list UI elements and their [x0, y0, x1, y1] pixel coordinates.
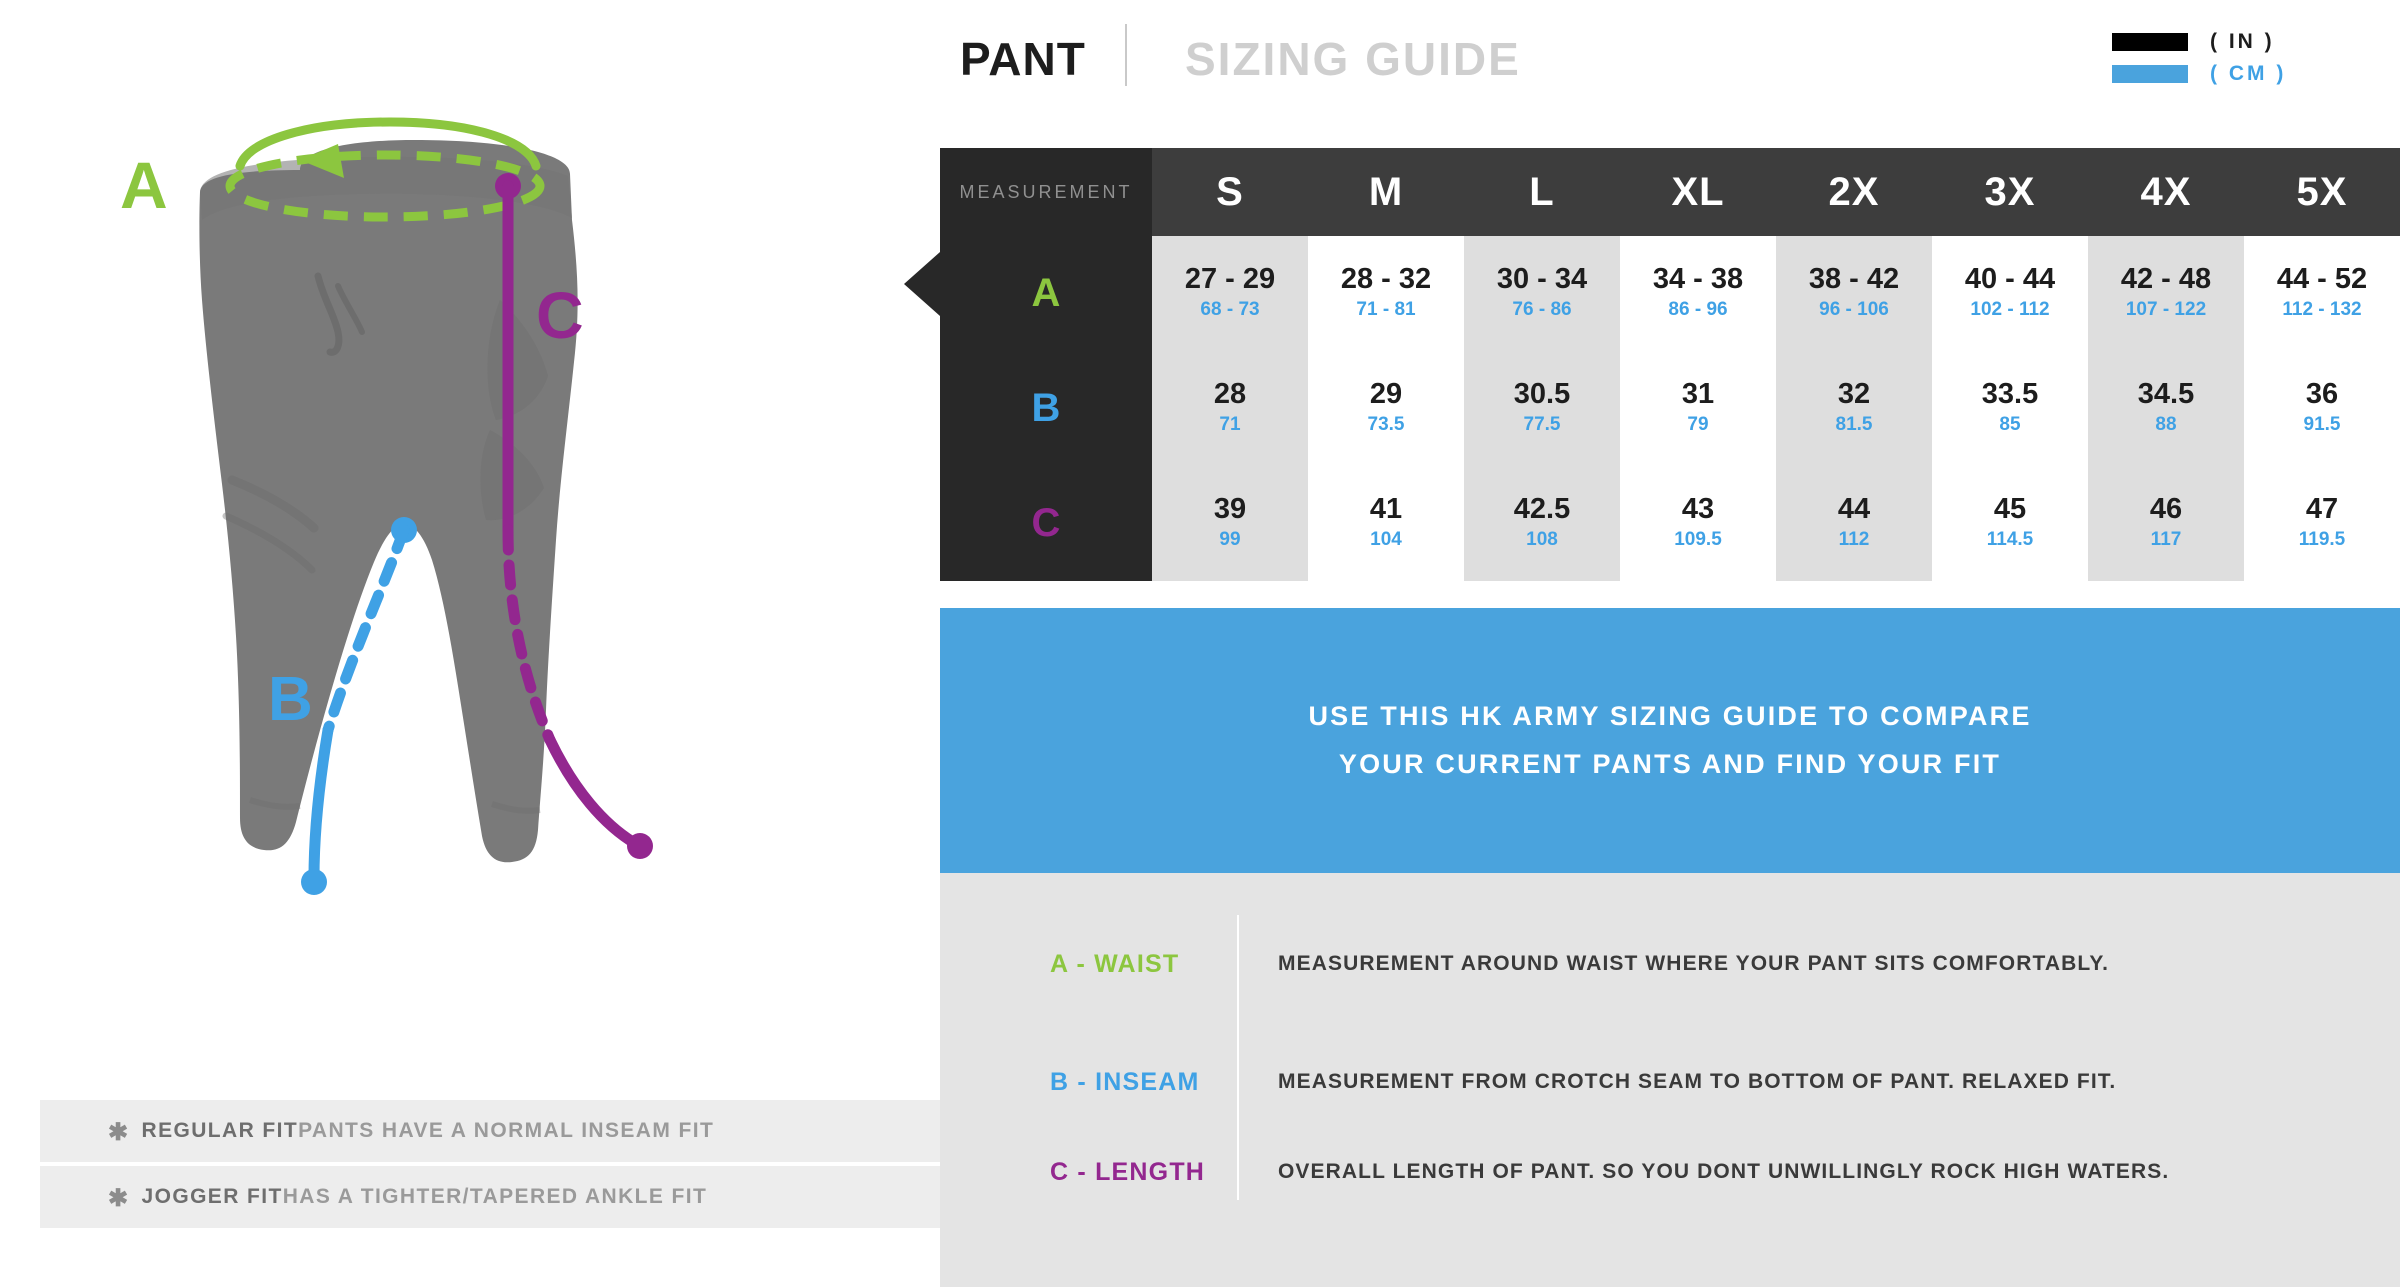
marker-a-label: A — [120, 148, 168, 222]
definition-text-inseam: MEASUREMENT FROM CROTCH SEAM TO BOTTOM O… — [1237, 1070, 2116, 1094]
fit-note-regular-strong: REGULAR FIT — [142, 1119, 299, 1143]
definition-row-waist: A - WAIST MEASUREMENT AROUND WAIST WHERE… — [940, 935, 2400, 993]
pant-illustration: A B C — [0, 100, 940, 1000]
table-cell: 42 - 48107 - 122 — [2088, 236, 2244, 351]
definition-text-length: OVERALL LENGTH OF PANT. SO YOU DONT UNWI… — [1237, 1160, 2169, 1184]
callout-line-2: YOUR CURRENT PANTS AND FIND YOUR FIT — [1339, 741, 2001, 788]
table-header-size-4x: 4X — [2088, 148, 2244, 236]
cell-value-inches: 36 — [2306, 378, 2338, 411]
cell-value-centimeters: 71 — [1219, 411, 1240, 440]
cell-value-inches: 33.5 — [1982, 378, 2038, 411]
cell-value-centimeters: 108 — [1526, 526, 1558, 555]
cell-value-inches: 41 — [1370, 493, 1402, 526]
marker-b-label: B — [268, 665, 313, 734]
fit-note-jogger: ✱ JOGGER FIT HAS A TIGHTER/TAPERED ANKLE… — [40, 1166, 940, 1228]
cell-value-inches: 42 - 48 — [2121, 263, 2211, 296]
title-bar: PANT SIZING GUIDE ( IN ) ( CM ) — [940, 0, 2400, 135]
cell-value-inches: 39 — [1214, 493, 1246, 526]
cell-value-inches: 38 - 42 — [1809, 263, 1899, 296]
cell-value-inches: 31 — [1682, 378, 1714, 411]
legend-label-centimeters: ( CM ) — [2210, 62, 2286, 86]
cell-value-centimeters: 109.5 — [1674, 526, 1722, 555]
definition-text-waist: MEASUREMENT AROUND WAIST WHERE YOUR PANT… — [1237, 952, 2109, 976]
illustration-panel: A B C — [0, 0, 940, 1287]
cell-value-centimeters: 112 - 132 — [2282, 296, 2361, 325]
table-header-size-s: S — [1152, 148, 1308, 236]
units-legend: ( IN ) ( CM ) — [2112, 26, 2372, 90]
cell-value-centimeters: 86 - 96 — [1668, 296, 1727, 325]
fit-note-jogger-strong: JOGGER FIT — [142, 1185, 283, 1209]
swatch-inches — [2112, 33, 2188, 51]
marker-c-label: C — [536, 278, 584, 352]
table-header-size-m: M — [1308, 148, 1464, 236]
callout-banner: USE THIS HK ARMY SIZING GUIDE TO COMPARE… — [940, 608, 2400, 873]
table-cell: 44112 — [1776, 466, 1932, 581]
cell-value-centimeters: 68 - 73 — [1200, 296, 1259, 325]
definition-key-inseam: B - INSEAM — [940, 1068, 1237, 1097]
cell-value-centimeters: 107 - 122 — [2126, 296, 2206, 325]
table-cell: 46117 — [2088, 466, 2244, 581]
cell-value-centimeters: 96 - 106 — [1819, 296, 1889, 325]
page-subtitle: SIZING GUIDE — [1185, 32, 1521, 86]
cell-value-centimeters: 73.5 — [1368, 411, 1405, 440]
fit-note-regular-rest: PANTS HAVE A NORMAL INSEAM FIT — [298, 1119, 714, 1143]
cell-value-centimeters: 104 — [1370, 526, 1402, 555]
table-cell: 30.577.5 — [1464, 351, 1620, 466]
swatch-centimeters — [2112, 65, 2188, 83]
cell-value-centimeters: 117 — [2151, 526, 2182, 555]
definition-row-length: C - LENGTH OVERALL LENGTH OF PANT. SO YO… — [940, 1143, 2400, 1201]
fit-note-jogger-rest: HAS A TIGHTER/TAPERED ANKLE FIT — [283, 1185, 708, 1209]
cell-value-inches: 46 — [2150, 493, 2182, 526]
cell-value-centimeters: 112 — [1839, 526, 1870, 555]
cell-value-centimeters: 77.5 — [1524, 411, 1561, 440]
cell-value-inches: 32 — [1838, 378, 1870, 411]
table-cell: 44 - 52112 - 132 — [2244, 236, 2400, 351]
table-cell: 2871 — [1152, 351, 1308, 466]
definition-key-length: C - LENGTH — [940, 1158, 1237, 1187]
table-header-size-l: L — [1464, 148, 1620, 236]
table-cell: 38 - 4296 - 106 — [1776, 236, 1932, 351]
table-cell: 43109.5 — [1620, 466, 1776, 581]
table-cell: 3281.5 — [1776, 351, 1932, 466]
table-header-size-2x: 2X — [1776, 148, 1932, 236]
cell-value-inches: 47 — [2306, 493, 2338, 526]
page-title: PANT — [960, 32, 1086, 86]
table-row-label-a: A — [940, 236, 1152, 351]
cell-value-inches: 42.5 — [1514, 493, 1570, 526]
pant-silhouette — [199, 140, 577, 862]
cell-value-inches: 29 — [1370, 378, 1402, 411]
sizing-table: MEASUREMENTSMLXL2X3X4X5XA27 - 2968 - 732… — [940, 148, 2400, 581]
asterisk-icon: ✱ — [108, 1121, 130, 1145]
table-cell: 30 - 3476 - 86 — [1464, 236, 1620, 351]
table-cell: 27 - 2968 - 73 — [1152, 236, 1308, 351]
table-cell: 34 - 3886 - 96 — [1620, 236, 1776, 351]
definitions-section: A - WAIST MEASUREMENT AROUND WAIST WHERE… — [940, 873, 2400, 1287]
table-cell: 2973.5 — [1308, 351, 1464, 466]
cell-value-inches: 44 - 52 — [2277, 263, 2367, 296]
legend-row-centimeters: ( CM ) — [2112, 58, 2372, 90]
cell-value-centimeters: 88 — [2155, 411, 2176, 440]
cell-value-centimeters: 79 — [1687, 411, 1708, 440]
table-header-size-xl: XL — [1620, 148, 1776, 236]
definition-row-inseam: B - INSEAM MEASUREMENT FROM CROTCH SEAM … — [940, 1053, 2400, 1111]
fit-notes: ✱ REGULAR FIT PANTS HAVE A NORMAL INSEAM… — [40, 1100, 940, 1228]
table-cell: 45114.5 — [1932, 466, 2088, 581]
table-header-size-5x: 5X — [2244, 148, 2400, 236]
table-cell: 28 - 3271 - 81 — [1308, 236, 1464, 351]
cell-value-inches: 40 - 44 — [1965, 263, 2055, 296]
sizing-table-wrap: MEASUREMENTSMLXL2X3X4X5XA27 - 2968 - 732… — [940, 148, 2400, 608]
table-cell: 47119.5 — [2244, 466, 2400, 581]
cell-value-centimeters: 81.5 — [1836, 411, 1873, 440]
cell-value-centimeters: 76 - 86 — [1512, 296, 1571, 325]
cell-value-inches: 30.5 — [1514, 378, 1570, 411]
legend-row-inches: ( IN ) — [2112, 26, 2372, 58]
cell-value-inches: 28 — [1214, 378, 1246, 411]
cell-value-inches: 43 — [1682, 493, 1714, 526]
table-cell: 40 - 44102 - 112 — [1932, 236, 2088, 351]
cell-value-centimeters: 114.5 — [1987, 526, 2034, 555]
cell-value-inches: 30 - 34 — [1497, 263, 1587, 296]
legend-label-inches: ( IN ) — [2210, 30, 2275, 54]
table-notch-icon — [904, 252, 940, 316]
cell-value-centimeters: 85 — [1999, 411, 2020, 440]
table-cell: 42.5108 — [1464, 466, 1620, 581]
cell-value-inches: 44 — [1838, 493, 1870, 526]
table-cell: 34.588 — [2088, 351, 2244, 466]
sizing-guide-page: A B C — [0, 0, 2400, 1287]
table-header-size-3x: 3X — [1932, 148, 2088, 236]
cell-value-inches: 28 - 32 — [1341, 263, 1431, 296]
cell-value-inches: 34 - 38 — [1653, 263, 1743, 296]
cell-value-inches: 45 — [1994, 493, 2026, 526]
cell-value-centimeters: 99 — [1219, 526, 1240, 555]
fit-note-regular: ✱ REGULAR FIT PANTS HAVE A NORMAL INSEAM… — [40, 1100, 940, 1162]
table-cell: 33.585 — [1932, 351, 2088, 466]
table-cell: 41104 — [1308, 466, 1464, 581]
table-cell: 3999 — [1152, 466, 1308, 581]
title-divider — [1125, 24, 1127, 86]
table-cell: 3691.5 — [2244, 351, 2400, 466]
cell-value-inches: 34.5 — [2138, 378, 2194, 411]
table-row-label-c: C — [940, 466, 1152, 581]
sizing-panel: PANT SIZING GUIDE ( IN ) ( CM ) MEASUREM… — [940, 0, 2400, 1287]
table-row-label-b: B — [940, 351, 1152, 466]
asterisk-icon: ✱ — [108, 1187, 130, 1211]
cell-value-centimeters: 119.5 — [2299, 526, 2346, 555]
callout-line-1: USE THIS HK ARMY SIZING GUIDE TO COMPARE — [1308, 693, 2031, 740]
cell-value-centimeters: 91.5 — [2304, 411, 2341, 440]
definition-key-waist: A - WAIST — [940, 950, 1237, 979]
cell-value-inches: 27 - 29 — [1185, 263, 1275, 296]
cell-value-centimeters: 71 - 81 — [1356, 296, 1415, 325]
table-cell: 3179 — [1620, 351, 1776, 466]
table-header-measurement: MEASUREMENT — [940, 148, 1152, 236]
cell-value-centimeters: 102 - 112 — [1970, 296, 2049, 325]
